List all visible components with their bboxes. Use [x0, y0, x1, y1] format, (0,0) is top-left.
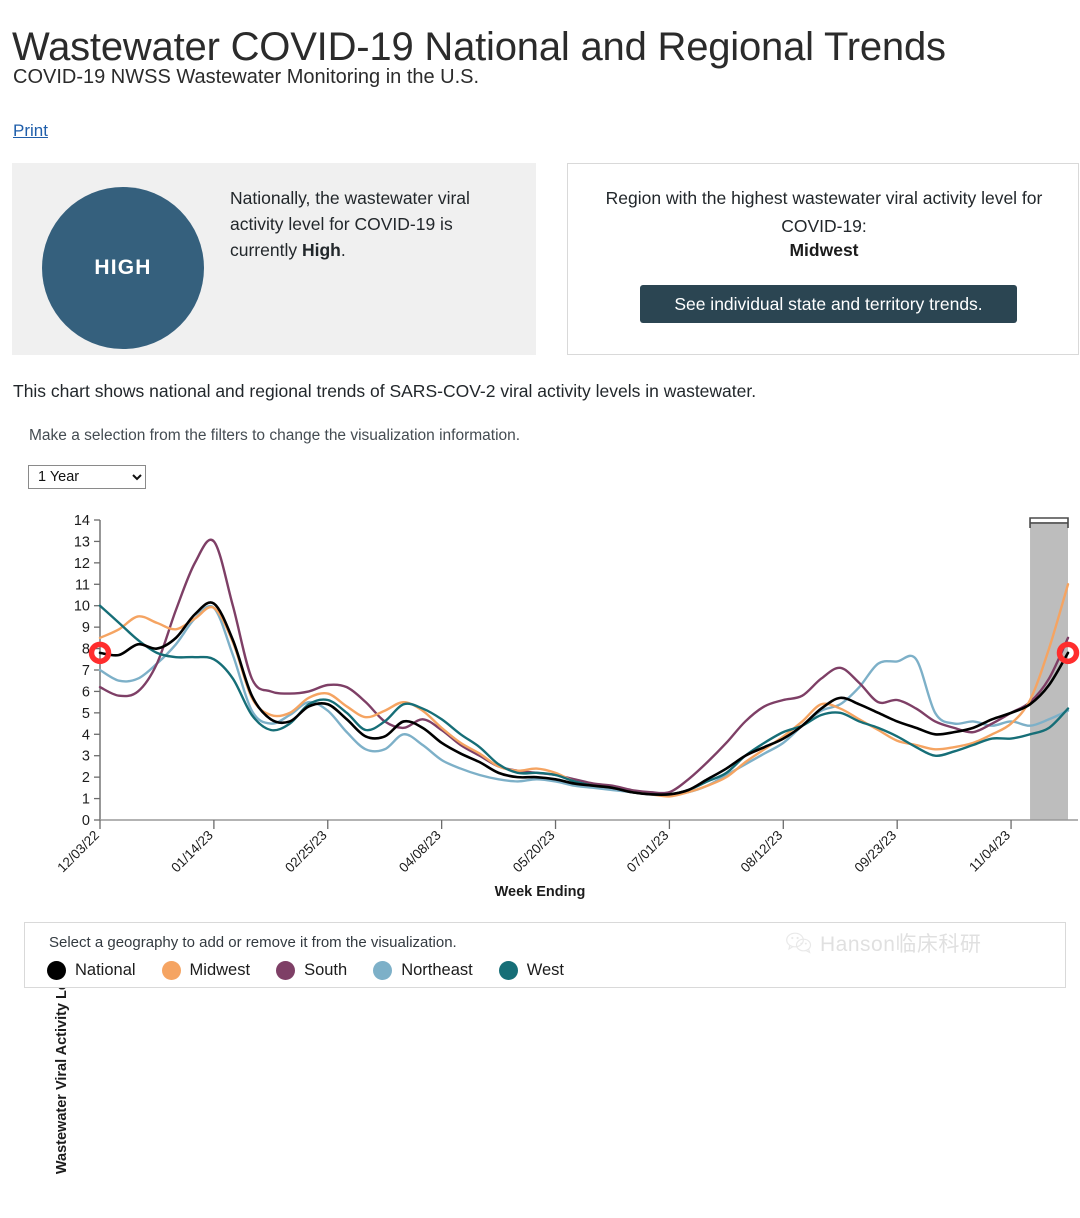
chart-line-west — [100, 606, 1068, 795]
chart-y-tick-label: 2 — [82, 770, 90, 786]
legend-item-south[interactable]: South — [276, 961, 347, 980]
chart-x-tick-label: 01/14/23 — [168, 828, 216, 876]
chart-y-tick-label: 10 — [74, 599, 90, 615]
see-state-trends-button[interactable]: See individual state and territory trend… — [640, 285, 1017, 323]
legend-item-label: National — [75, 961, 136, 980]
chart-x-tick-label: 05/20/23 — [510, 828, 558, 876]
legend-item-national[interactable]: National — [47, 961, 136, 980]
national-level-text-before: Nationally, the wastewater viral activit… — [230, 188, 470, 260]
chart-x-tick-label: 04/08/23 — [396, 828, 444, 876]
legend-item-label: South — [304, 961, 347, 980]
chart-x-tick-label: 11/04/23 — [966, 828, 1013, 875]
legend-item-label: West — [527, 961, 564, 980]
legend-item-midwest[interactable]: Midwest — [162, 961, 251, 980]
chart-y-tick-label: 9 — [82, 620, 90, 636]
legend-dot-icon — [47, 961, 66, 980]
chart-x-tick-label: 07/01/23 — [624, 828, 672, 876]
chart-y-tick-label: 7 — [82, 663, 90, 679]
chart-y-tick-label: 6 — [82, 684, 90, 700]
national-level-card: HIGH Nationally, the wastewater viral ac… — [12, 163, 536, 355]
chart-y-tick-label: 8 — [82, 642, 90, 658]
chart-line-national — [100, 602, 1068, 794]
page-subtitle: COVID-19 NWSS Wastewater Monitoring in t… — [13, 66, 479, 89]
chart-plot-area: 0123456789101112131412/03/2201/14/2302/2… — [0, 500, 1080, 910]
chart-y-tick-label: 5 — [82, 706, 90, 722]
chart-y-tick-label: 12 — [74, 556, 90, 572]
legend-item-northeast[interactable]: Northeast — [373, 961, 473, 980]
chart-x-tick-label: 09/23/23 — [852, 828, 900, 876]
chart-x-tick-label: 08/12/23 — [738, 828, 786, 876]
chart-y-tick-label: 13 — [74, 534, 90, 550]
national-level-text-after: . — [341, 240, 346, 260]
highest-region-card: Region with the highest wastewater viral… — [567, 163, 1079, 355]
legend-item-label: Midwest — [190, 961, 251, 980]
legend-item-west[interactable]: West — [499, 961, 564, 980]
legend-dot-icon — [276, 961, 295, 980]
chart-description: This chart shows national and regional t… — [13, 381, 756, 402]
highest-region-name: Midwest — [590, 240, 1058, 261]
chart-x-tick-label: 12/03/22 — [54, 828, 102, 876]
filter-hint: Make a selection from the filters to cha… — [29, 427, 520, 445]
page-title: Wastewater COVID-19 National and Regiona… — [12, 25, 946, 70]
chart-x-axis-title: Week Ending — [0, 884, 1080, 900]
national-level-badge: HIGH — [42, 187, 204, 349]
national-level-badge-label: HIGH — [94, 256, 151, 280]
national-level-text: Nationally, the wastewater viral activit… — [230, 185, 510, 263]
print-link[interactable]: Print — [13, 121, 48, 141]
chart-y-tick-label: 14 — [74, 513, 90, 529]
legend-hint: Select a geography to add or remove it f… — [49, 934, 457, 951]
legend-item-label: Northeast — [401, 961, 473, 980]
chart-x-tick-label: 02/25/23 — [282, 828, 330, 876]
legend-dot-icon — [373, 961, 392, 980]
legend-dot-icon — [162, 961, 181, 980]
highest-region-title: Region with the highest wastewater viral… — [590, 184, 1058, 240]
page-root: Wastewater COVID-19 National and Regiona… — [0, 0, 1080, 993]
chart-y-tick-label: 3 — [82, 749, 90, 765]
national-level-text-bold: High — [302, 240, 341, 260]
chart-line-south — [100, 540, 1068, 793]
chart-highlight-band — [1030, 522, 1068, 820]
legend-items: NationalMidwestSouthNortheastWest — [47, 961, 590, 980]
legend-dot-icon — [499, 961, 518, 980]
chart-y-tick-label: 11 — [75, 577, 90, 593]
chart-y-tick-label: 4 — [82, 727, 90, 743]
chart-y-tick-label: 1 — [82, 792, 90, 808]
timeframe-select[interactable]: 1 Year — [28, 465, 146, 489]
legend-panel: Select a geography to add or remove it f… — [24, 922, 1066, 988]
chart-y-tick-label: 0 — [82, 813, 90, 829]
trend-chart: Wastewater Viral Activity Level 01234567… — [0, 500, 1080, 910]
